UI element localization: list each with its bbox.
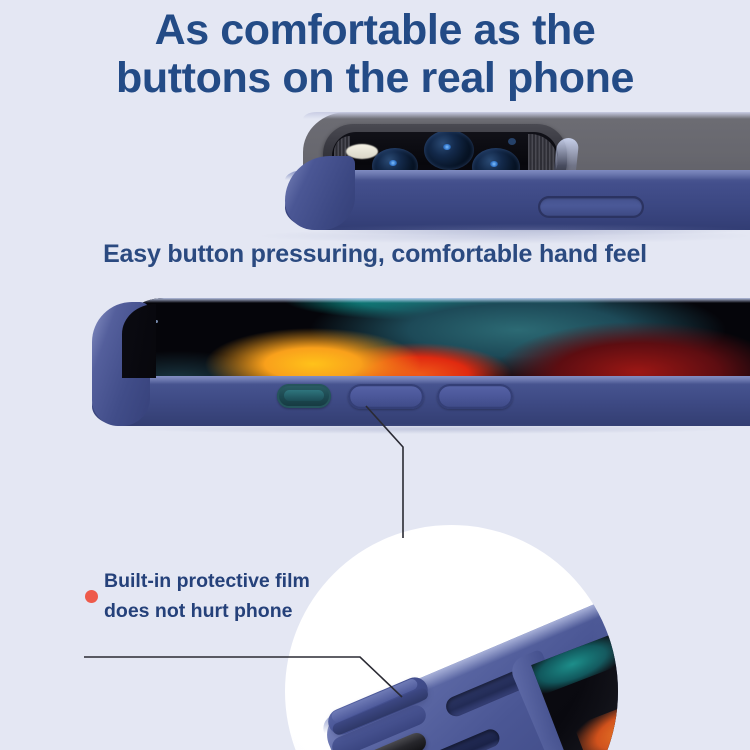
caption-hand-feel: Easy button pressuring, comfortable hand… xyxy=(0,240,750,269)
phone-case-camera-view xyxy=(285,112,750,230)
side-button xyxy=(538,196,644,218)
volume-up-button xyxy=(348,384,424,409)
phone-screen xyxy=(118,298,750,384)
screen-corner-dark xyxy=(122,304,156,378)
volume-down-button xyxy=(437,384,513,409)
phone-back-highlight xyxy=(303,112,750,119)
phone-drop-shadow xyxy=(132,424,732,434)
page-title: As comfortable as the buttons on the rea… xyxy=(0,6,750,102)
case-body-side-edge xyxy=(92,376,750,384)
product-marketing-page: As comfortable as the buttons on the rea… xyxy=(0,0,750,750)
camera-lens-icon xyxy=(424,132,474,170)
page-title-line-2: buttons on the real phone xyxy=(0,54,750,102)
screen-wallpaper xyxy=(118,298,750,384)
case-corner-left-side xyxy=(92,302,150,426)
mute-switch xyxy=(277,384,331,408)
detail-zoom-circle xyxy=(285,525,618,750)
phone-case-side-view xyxy=(92,298,750,428)
screen-glare xyxy=(118,298,750,303)
annotation-bullet-icon xyxy=(85,590,98,603)
case-corner-left xyxy=(285,156,355,230)
page-title-line-1: As comfortable as the xyxy=(0,6,750,54)
camera-sensor-icon xyxy=(508,138,516,145)
zoom-circle-vignette xyxy=(285,525,618,750)
